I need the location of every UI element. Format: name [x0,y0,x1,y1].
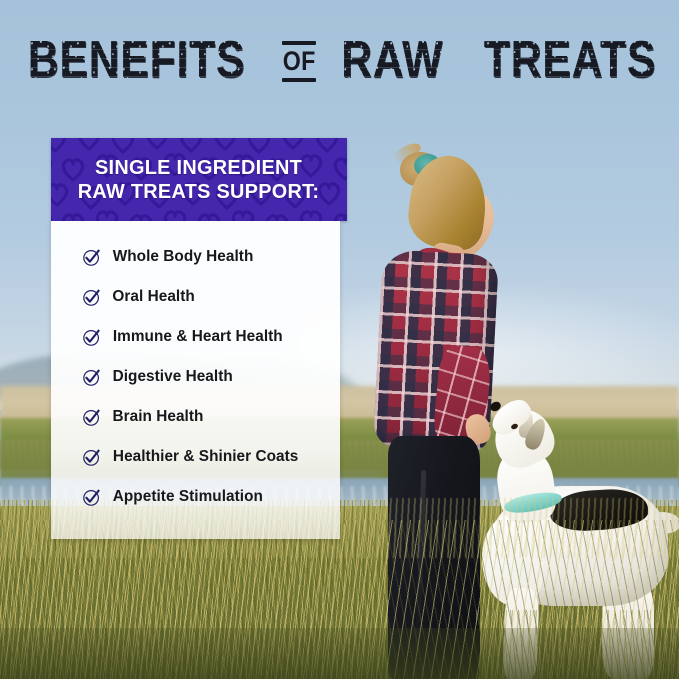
list-item: Healthier & Shinier Coats [51,437,340,477]
of-bar-bottom [282,78,316,82]
benefit-label: Brain Health [112,408,203,426]
benefit-label: Digestive Health [113,368,233,386]
of-bar-top [282,41,316,45]
title-connector-of: OF [280,41,319,86]
check-circle-icon [82,288,101,307]
check-circle-icon [82,328,101,347]
infographic-canvas: BENEFITS OF RAW TREATS [0,0,679,679]
check-circle-icon [82,368,101,387]
benefit-label: Immune & Heart Health [113,328,283,346]
benefit-label: Healthier & Shinier Coats [113,448,298,466]
check-circle-icon [82,248,101,267]
check-circle-icon [82,448,101,467]
page-title: BENEFITS OF RAW TREATS [0,36,679,86]
card-body: Whole Body Health Oral Health Immune & H… [51,221,340,539]
title-line: BENEFITS OF RAW TREATS [4,36,675,86]
check-circle-icon [82,408,101,427]
title-word-raw: RAW [341,36,443,86]
of-text: OF [283,48,316,75]
card-header-line-2: RAW TREATS SUPPORT: [78,180,320,204]
list-item: Whole Body Health [51,237,340,277]
benefit-label: Whole Body Health [113,248,254,266]
list-item: Digestive Health [51,357,340,397]
benefit-label: Oral Health [112,288,194,306]
list-item: Appetite Stimulation [51,477,340,517]
check-circle-icon [82,488,101,507]
card-header: SINGLE INGREDIENT RAW TREATS SUPPORT: [51,138,347,221]
card-header-text: SINGLE INGREDIENT RAW TREATS SUPPORT: [78,156,320,204]
card-header-line-1: SINGLE INGREDIENT [78,156,320,180]
title-word-benefits: BENEFITS [28,36,245,86]
benefit-label: Appetite Stimulation [113,488,263,506]
list-item: Brain Health [51,397,340,437]
benefits-list: Whole Body Health Oral Health Immune & H… [51,237,340,517]
title-word-treats: TREATS [484,36,656,86]
list-item: Oral Health [51,277,340,317]
list-item: Immune & Heart Health [51,317,340,357]
benefits-card: SINGLE INGREDIENT RAW TREATS SUPPORT: Wh… [51,138,347,539]
grass-shadow-bottom [0,628,679,679]
